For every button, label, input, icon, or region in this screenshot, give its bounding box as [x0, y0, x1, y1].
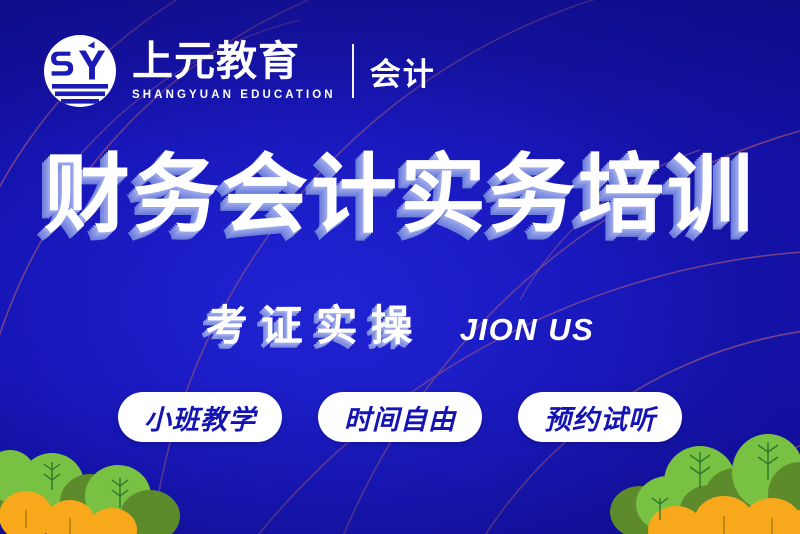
poster-canvas: 上元教育 SHANGYUAN EDUCATION 会计 财务会计实务培训 考证实… [0, 0, 800, 534]
subtitle-en: JION US [460, 312, 595, 348]
pill-flexible-time-label: 时间自由 [344, 398, 456, 437]
brand-wordmark: 上元教育 SHANGYUAN EDUCATION [132, 41, 336, 101]
pill-flexible-time[interactable]: 时间自由 [318, 392, 482, 442]
brand-category: 会计 [370, 49, 436, 94]
brand-name-cn: 上元教育 [132, 41, 336, 82]
subtitle-cn: 考证实操 [206, 305, 426, 347]
subtitle-row: 考证实操 JION US [0, 305, 800, 348]
pill-book-trial-label: 预约试听 [544, 398, 656, 437]
pill-small-class-label: 小班教学 [144, 398, 256, 437]
brand-divider [352, 44, 354, 98]
brand-name-en: SHANGYUAN EDUCATION [132, 89, 336, 101]
page-title: 财务会计实务培训 [0, 152, 800, 238]
sy-circle-logo-icon [42, 33, 118, 109]
brand-header: 上元教育 SHANGYUAN EDUCATION 会计 [42, 30, 436, 112]
pill-book-trial[interactable]: 预约试听 [518, 392, 682, 442]
feature-pill-row: 小班教学 时间自由 预约试听 [0, 392, 800, 442]
pill-small-class[interactable]: 小班教学 [118, 392, 282, 442]
